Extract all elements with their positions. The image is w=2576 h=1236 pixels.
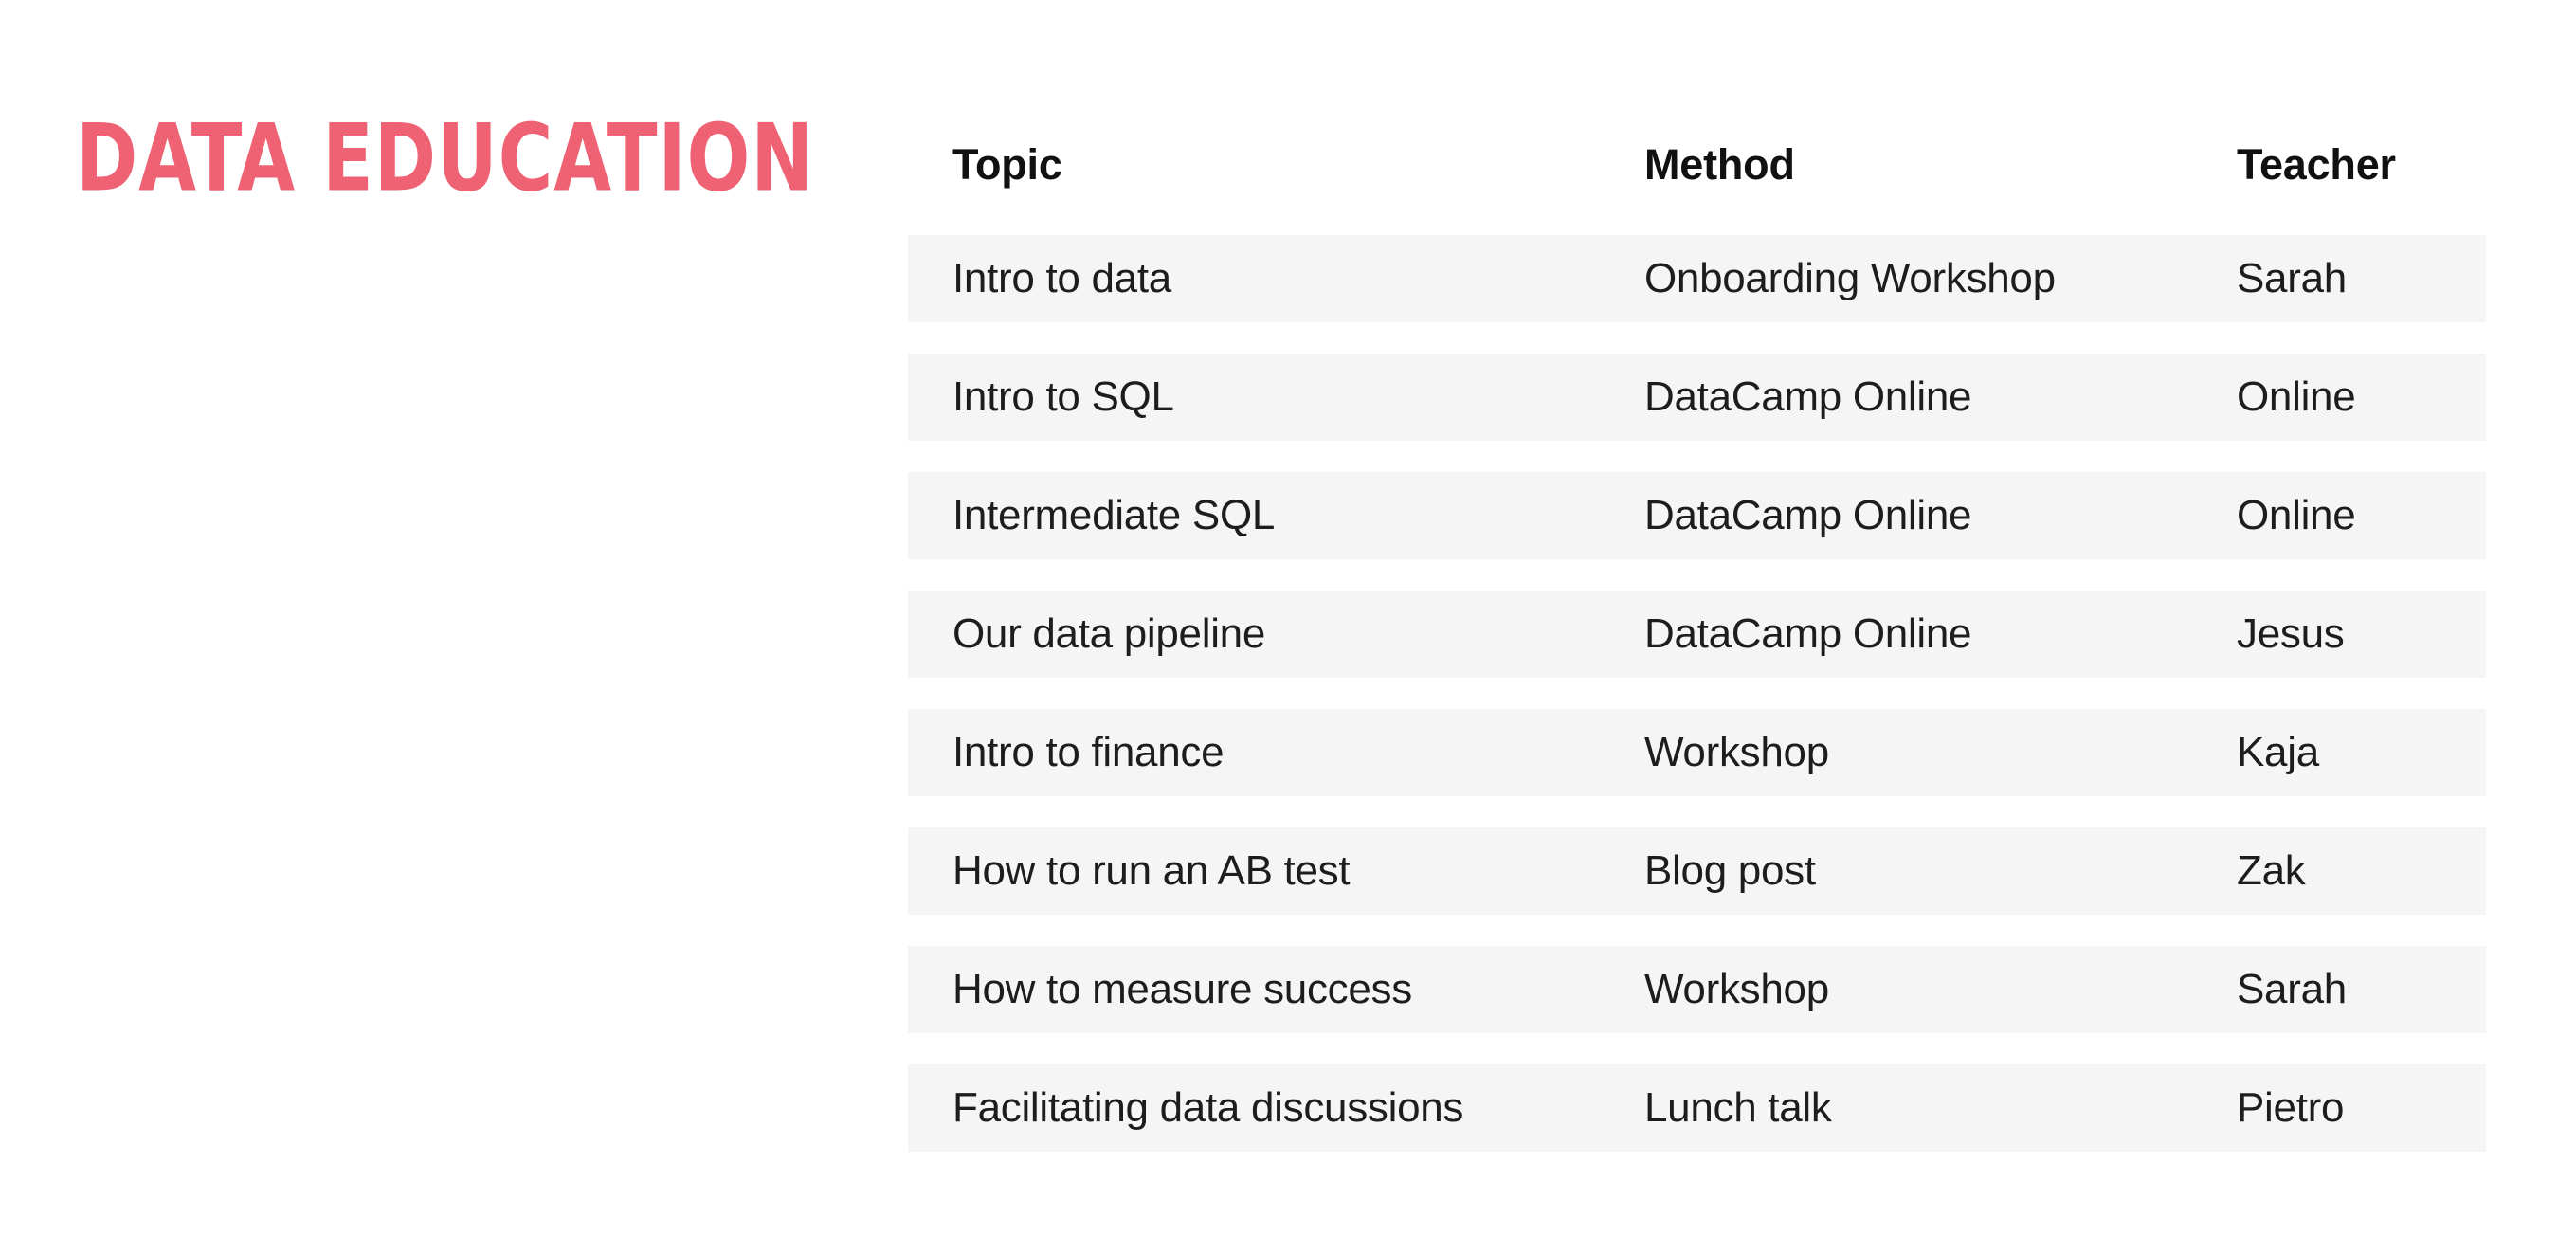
cell-method: DataCamp Online <box>1644 491 1971 540</box>
cell-topic: How to measure success <box>952 965 1412 1014</box>
cell-method: Workshop <box>1644 965 1829 1014</box>
cell-topic: Intermediate SQL <box>952 491 1275 540</box>
table-row: Intermediate SQL DataCamp Online Online <box>908 472 2486 559</box>
column-header-teacher: Teacher <box>2237 140 2396 190</box>
cell-teacher: Pietro <box>2237 1083 2344 1133</box>
cell-method: DataCamp Online <box>1644 609 1971 659</box>
cell-method: Workshop <box>1644 728 1829 777</box>
cell-topic: Intro to data <box>952 254 1171 303</box>
cell-topic: Facilitating data discussions <box>952 1083 1463 1133</box>
cell-method: Lunch talk <box>1644 1083 1832 1133</box>
table-row: Our data pipeline DataCamp Online Jesus <box>908 591 2486 678</box>
cell-teacher: Online <box>2237 491 2355 540</box>
table-row: Intro to finance Workshop Kaja <box>908 709 2486 796</box>
cell-teacher: Zak <box>2237 846 2305 896</box>
table-row: Intro to data Onboarding Workshop Sarah <box>908 235 2486 322</box>
cell-method: Blog post <box>1644 846 1816 896</box>
cell-topic: Intro to finance <box>952 728 1224 777</box>
table-header-row: Topic Method Teacher <box>908 121 2486 235</box>
table-row: How to measure success Workshop Sarah <box>908 946 2486 1033</box>
cell-method: DataCamp Online <box>1644 373 1971 422</box>
cell-teacher: Jesus <box>2237 609 2344 659</box>
cell-topic: Intro to SQL <box>952 373 1174 422</box>
cell-method: Onboarding Workshop <box>1644 254 2056 303</box>
data-education-table: Topic Method Teacher Intro to data Onboa… <box>908 121 2486 1183</box>
column-header-method: Method <box>1644 140 1795 190</box>
cell-teacher: Sarah <box>2237 965 2347 1014</box>
cell-teacher: Sarah <box>2237 254 2347 303</box>
cell-topic: Our data pipeline <box>952 609 1265 659</box>
cell-topic: How to run an AB test <box>952 846 1350 896</box>
table-row: Facilitating data discussions Lunch talk… <box>908 1064 2486 1152</box>
cell-teacher: Kaja <box>2237 728 2319 777</box>
page-title: DATA EDUCATION <box>76 112 814 205</box>
cell-teacher: Online <box>2237 373 2355 422</box>
table-row: How to run an AB test Blog post Zak <box>908 827 2486 915</box>
table-row: Intro to SQL DataCamp Online Online <box>908 354 2486 441</box>
column-header-topic: Topic <box>952 140 1062 190</box>
